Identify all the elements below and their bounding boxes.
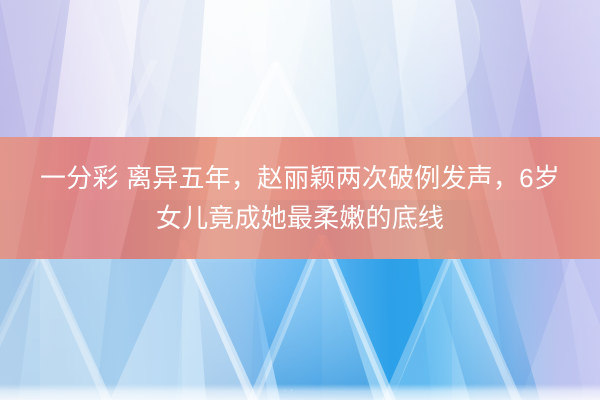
headline-line-2: 女儿竟成她最柔嫩的底线: [30, 198, 570, 238]
promo-banner-image: 一分彩 离异五年，赵丽颖两次破例发声，6岁 女儿竟成她最柔嫩的底线 · ·: [0, 0, 600, 400]
coral-text-band: 一分彩 离异五年，赵丽颖两次破例发声，6岁 女儿竟成她最柔嫩的底线: [0, 137, 600, 259]
headline-text: 一分彩 离异五年，赵丽颖两次破例发声，6岁 女儿竟成她最柔嫩的底线: [30, 158, 570, 238]
headline-line-1: 一分彩 离异五年，赵丽颖两次破例发声，6岁: [30, 158, 570, 198]
